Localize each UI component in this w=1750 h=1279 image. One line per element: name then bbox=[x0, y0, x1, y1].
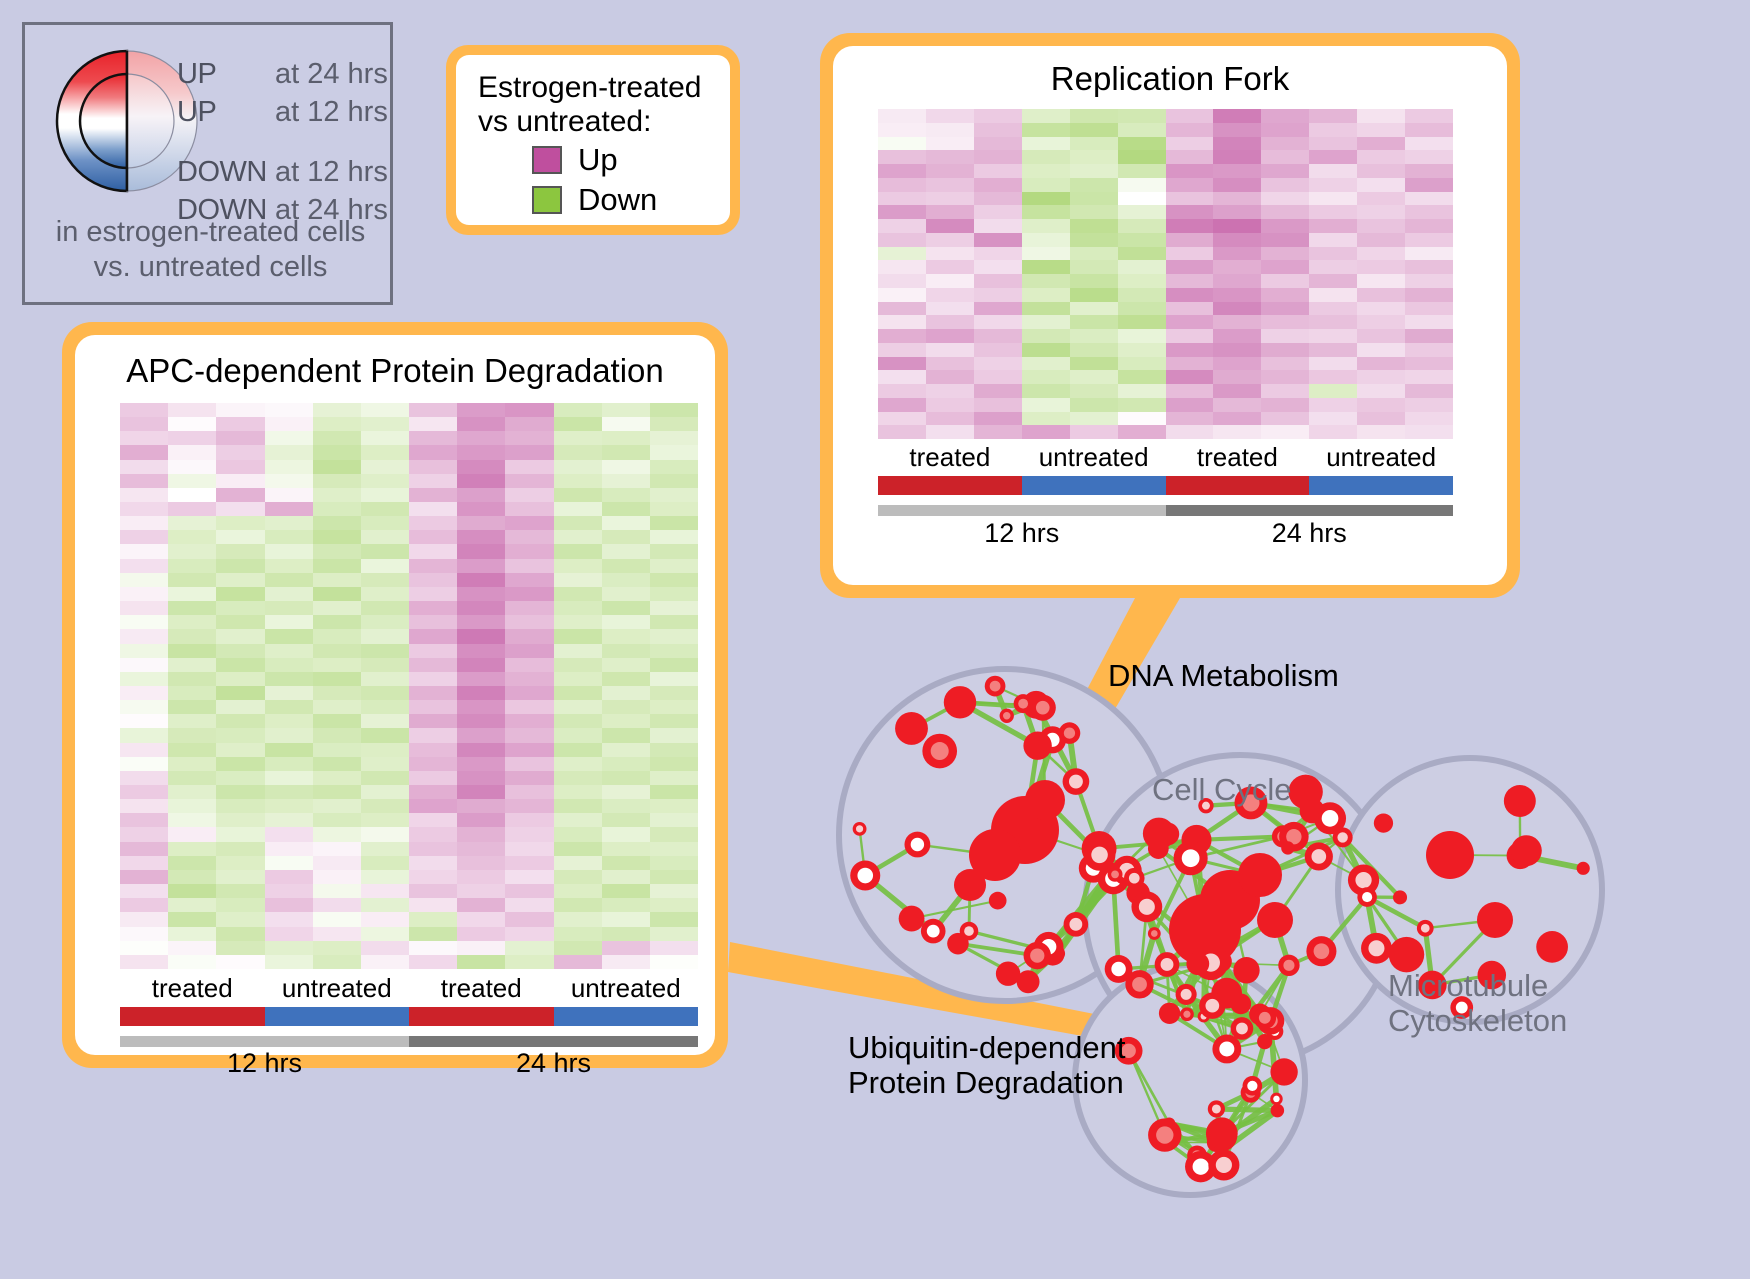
condition-bar-segment bbox=[878, 476, 1022, 495]
node-outer-ring bbox=[1238, 853, 1282, 897]
heatmap-cell bbox=[1309, 412, 1357, 426]
ubiquitin-line-2: Protein Degradation bbox=[848, 1065, 1126, 1100]
heatmap-cell bbox=[554, 587, 602, 601]
network-node[interactable] bbox=[1281, 841, 1294, 854]
heatmap-cell bbox=[1213, 274, 1261, 288]
heatmap-cell bbox=[878, 412, 926, 426]
heatmap-cell bbox=[974, 329, 1022, 343]
updown-title-line-1: Estrogen-treated bbox=[478, 71, 720, 105]
network-node[interactable] bbox=[899, 906, 925, 932]
heatmap-cell bbox=[1022, 398, 1070, 412]
network-node[interactable] bbox=[1361, 933, 1392, 964]
heatmap-cell bbox=[1070, 425, 1118, 439]
heatmap-cell bbox=[1213, 302, 1261, 316]
condition-label: treated bbox=[409, 973, 554, 1004]
heatmap-cell bbox=[265, 813, 313, 827]
heatmap-cell bbox=[313, 827, 361, 841]
heatmap-cell bbox=[265, 502, 313, 516]
heatmap-cell bbox=[1213, 357, 1261, 371]
network-node[interactable] bbox=[1271, 1104, 1285, 1118]
heatmap-cell bbox=[1213, 123, 1261, 137]
heatmap-cell bbox=[1261, 247, 1309, 261]
heatmap-cell bbox=[457, 445, 505, 459]
node-outer-ring bbox=[1186, 952, 1209, 975]
network-node[interactable] bbox=[1024, 942, 1051, 969]
heatmap-cell bbox=[168, 658, 216, 672]
heatmap-cell bbox=[1405, 150, 1453, 164]
network-node[interactable] bbox=[1208, 1100, 1225, 1117]
node-outer-ring bbox=[1025, 780, 1065, 820]
network-node[interactable] bbox=[895, 712, 928, 745]
heatmap-cell bbox=[168, 530, 216, 544]
heatmap-cell bbox=[313, 445, 361, 459]
heatmap-cell bbox=[1070, 370, 1118, 384]
heatmap-cell bbox=[216, 771, 264, 785]
network-node[interactable] bbox=[1186, 952, 1209, 975]
heatmap-cell bbox=[554, 573, 602, 587]
network-node[interactable] bbox=[1477, 902, 1513, 938]
heatmap-cell bbox=[216, 700, 264, 714]
heatmap-cell bbox=[602, 474, 650, 488]
heatmap-cell bbox=[650, 686, 698, 700]
heatmap-cell bbox=[457, 474, 505, 488]
network-node[interactable] bbox=[1389, 937, 1424, 972]
network-node[interactable] bbox=[1417, 920, 1434, 937]
panel-title-replication-fork: Replication Fork bbox=[833, 46, 1507, 98]
heatmap-cell bbox=[409, 672, 457, 686]
heatmap-cell bbox=[120, 884, 168, 898]
node-inner-fill bbox=[911, 838, 924, 851]
node-inner-fill bbox=[1151, 930, 1158, 937]
heatmap-cell bbox=[650, 559, 698, 573]
heatmap-cell bbox=[409, 615, 457, 629]
heatmap-cell bbox=[554, 771, 602, 785]
heatmap-cell bbox=[361, 771, 409, 785]
heatmap-cell bbox=[265, 403, 313, 417]
condition-label: untreated bbox=[1309, 442, 1453, 473]
node-outer-ring bbox=[944, 686, 976, 718]
network-node[interactable] bbox=[960, 922, 979, 941]
heatmap-cell bbox=[602, 856, 650, 870]
network-node[interactable] bbox=[1064, 912, 1089, 937]
down-color-swatch bbox=[532, 186, 562, 214]
heatmap-cell bbox=[216, 445, 264, 459]
network-node[interactable] bbox=[944, 686, 976, 718]
heatmap-cell bbox=[602, 884, 650, 898]
heatmap-cell bbox=[650, 474, 698, 488]
heatmap-cell bbox=[409, 629, 457, 643]
network-node[interactable] bbox=[1511, 835, 1542, 866]
heatmap-cell bbox=[878, 329, 926, 343]
network-node[interactable] bbox=[1131, 891, 1162, 922]
heatmap-cell bbox=[168, 728, 216, 742]
heatmap-cell bbox=[120, 743, 168, 757]
heatmap-cell bbox=[602, 728, 650, 742]
heatmap-cell bbox=[361, 672, 409, 686]
heatmap-cell bbox=[974, 137, 1022, 151]
network-node[interactable] bbox=[1233, 957, 1259, 983]
legend-row-up-12: UP at 12 hrs bbox=[177, 93, 392, 131]
network-node[interactable] bbox=[1176, 984, 1197, 1005]
network-node[interactable] bbox=[1125, 970, 1153, 998]
network-node[interactable] bbox=[1504, 785, 1536, 817]
network-node[interactable] bbox=[954, 869, 986, 901]
heatmap-cell bbox=[554, 516, 602, 530]
heatmap-cell bbox=[409, 686, 457, 700]
network-node[interactable] bbox=[1014, 694, 1033, 713]
heatmap-cell bbox=[265, 870, 313, 884]
heatmap-cell bbox=[1261, 164, 1309, 178]
heatmap-cell bbox=[313, 898, 361, 912]
heatmap-replication-fork bbox=[878, 109, 1453, 439]
heatmap-cell bbox=[650, 644, 698, 658]
heatmap-cell bbox=[1357, 247, 1405, 261]
heatmap-cell bbox=[120, 912, 168, 926]
heatmap-cell bbox=[1022, 412, 1070, 426]
node-outer-ring bbox=[1257, 1034, 1272, 1049]
heatmap-cell bbox=[168, 785, 216, 799]
heatmap-cell bbox=[1357, 233, 1405, 247]
heatmap-cell bbox=[650, 898, 698, 912]
network-node[interactable] bbox=[1393, 890, 1407, 904]
condition-color-bar-apc bbox=[120, 1007, 698, 1026]
heatmap-cell bbox=[409, 856, 457, 870]
heatmap-cell bbox=[1261, 315, 1309, 329]
heatmap-cell bbox=[1166, 329, 1214, 343]
heatmap-cell bbox=[1070, 192, 1118, 206]
heatmap-cell bbox=[1022, 178, 1070, 192]
heatmap-cell bbox=[313, 884, 361, 898]
network-node[interactable] bbox=[1017, 970, 1040, 993]
time-label: 24 hrs bbox=[409, 1048, 698, 1079]
heatmap-cell bbox=[313, 658, 361, 672]
heatmap-cell bbox=[1309, 233, 1357, 247]
heatmap-cell bbox=[554, 544, 602, 558]
heatmap-cell bbox=[1070, 164, 1118, 178]
heatmap-cell bbox=[926, 219, 974, 233]
heatmap-cell bbox=[120, 445, 168, 459]
heatmap-cell bbox=[216, 615, 264, 629]
network-label-cell-cycle: Cell Cycle bbox=[1152, 772, 1292, 807]
network-node[interactable] bbox=[1314, 802, 1346, 834]
heatmap-cell bbox=[505, 898, 553, 912]
network-node[interactable] bbox=[1306, 936, 1336, 966]
heatmap-cell bbox=[313, 516, 361, 530]
heatmap-cell bbox=[505, 856, 553, 870]
node-inner-fill bbox=[1156, 1126, 1173, 1143]
heatmap-cell bbox=[409, 417, 457, 431]
node-inner-fill bbox=[1091, 847, 1108, 864]
heatmap-cell bbox=[168, 884, 216, 898]
heatmap-cell bbox=[602, 658, 650, 672]
node-outer-ring bbox=[989, 892, 1007, 910]
network-node[interactable] bbox=[1238, 853, 1282, 897]
heatmap-cell bbox=[1118, 384, 1166, 398]
heatmap-cell bbox=[409, 601, 457, 615]
heatmap-cell bbox=[168, 445, 216, 459]
heatmap-cell bbox=[505, 403, 553, 417]
time-labels-apc: 12 hrs24 hrs bbox=[120, 1048, 698, 1079]
node-inner-fill bbox=[931, 742, 949, 760]
node-inner-fill bbox=[1064, 727, 1075, 738]
heatmap-cell bbox=[409, 403, 457, 417]
network-node[interactable] bbox=[904, 832, 930, 858]
heatmap-cell bbox=[313, 573, 361, 587]
heatmap-cell bbox=[974, 233, 1022, 247]
network-node[interactable] bbox=[853, 822, 867, 836]
heatmap-cell bbox=[168, 573, 216, 587]
heatmap-cell bbox=[554, 927, 602, 941]
network-node[interactable] bbox=[1305, 842, 1333, 870]
heatmap-cell bbox=[1118, 315, 1166, 329]
legend-row-down-12: DOWN at 12 hrs bbox=[177, 153, 392, 191]
node-inner-fill bbox=[1247, 1081, 1257, 1091]
network-node[interactable] bbox=[1174, 841, 1208, 875]
time-label: 24 hrs bbox=[1166, 518, 1454, 549]
heatmap-cell bbox=[926, 398, 974, 412]
heatmap-cell bbox=[554, 799, 602, 813]
heatmap-cell bbox=[1070, 398, 1118, 412]
heatmap-cell bbox=[505, 587, 553, 601]
heatmap-cell bbox=[1118, 247, 1166, 261]
heatmap-cell bbox=[313, 941, 361, 955]
heatmap-cell bbox=[1070, 178, 1118, 192]
network-node[interactable] bbox=[1577, 862, 1590, 875]
heatmap-cell bbox=[265, 827, 313, 841]
node-inner-fill bbox=[1183, 1011, 1190, 1018]
network-node[interactable] bbox=[1148, 927, 1161, 940]
heatmap-cell bbox=[313, 912, 361, 926]
network-node[interactable] bbox=[1124, 868, 1145, 889]
heatmap-cell bbox=[265, 460, 313, 474]
node-outer-ring bbox=[1281, 841, 1294, 854]
heatmap-cell bbox=[1357, 343, 1405, 357]
heatmap-cell bbox=[650, 799, 698, 813]
heatmap-cell bbox=[457, 827, 505, 841]
heatmap-cell bbox=[313, 870, 361, 884]
network-node[interactable] bbox=[1243, 1076, 1263, 1096]
node-inner-fill bbox=[1181, 989, 1192, 1000]
heatmap-cell bbox=[926, 247, 974, 261]
heatmap-cell bbox=[120, 615, 168, 629]
network-node[interactable] bbox=[1199, 993, 1225, 1019]
heatmap-cell bbox=[313, 700, 361, 714]
heatmap-cell bbox=[926, 109, 974, 123]
heatmap-cell bbox=[1405, 205, 1453, 219]
heatmap-cell bbox=[1166, 384, 1214, 398]
network-node[interactable] bbox=[1278, 955, 1299, 976]
heatmap-cell bbox=[878, 247, 926, 261]
heatmap-cell bbox=[878, 205, 926, 219]
heatmap-cell bbox=[120, 644, 168, 658]
heatmap-cell bbox=[878, 233, 926, 247]
network-node[interactable] bbox=[1212, 1035, 1241, 1064]
heatmap-cell bbox=[505, 417, 553, 431]
heatmap-cell bbox=[926, 233, 974, 247]
network-node[interactable] bbox=[921, 919, 946, 944]
heatmap-cell bbox=[216, 403, 264, 417]
heatmap-cell bbox=[1405, 178, 1453, 192]
network-node[interactable] bbox=[922, 734, 957, 769]
up-label: Up bbox=[578, 142, 618, 178]
heatmap-cell bbox=[168, 757, 216, 771]
node-inner-fill bbox=[1355, 872, 1371, 888]
heatmap-cell bbox=[457, 516, 505, 530]
node-inner-fill bbox=[1111, 962, 1125, 976]
network-node[interactable] bbox=[985, 676, 1006, 697]
heatmap-cell bbox=[1118, 150, 1166, 164]
network-node[interactable] bbox=[1023, 732, 1051, 760]
heatmap-cell bbox=[1357, 357, 1405, 371]
heatmap-cell bbox=[602, 941, 650, 955]
network-node[interactable] bbox=[1030, 695, 1056, 721]
heatmap-cell bbox=[878, 164, 926, 178]
heatmap-cell bbox=[650, 870, 698, 884]
network-node[interactable] bbox=[1270, 1058, 1297, 1085]
node-outer-ring bbox=[1374, 813, 1393, 832]
network-node[interactable] bbox=[1159, 1003, 1180, 1024]
condition-label: untreated bbox=[1022, 442, 1166, 473]
network-node[interactable] bbox=[1148, 1118, 1181, 1151]
heatmap-cell bbox=[457, 743, 505, 757]
network-node[interactable] bbox=[1025, 780, 1065, 820]
heatmap-cell bbox=[168, 941, 216, 955]
heatmap-cell bbox=[120, 431, 168, 445]
network-node[interactable] bbox=[1536, 931, 1568, 963]
network-node[interactable] bbox=[1059, 722, 1081, 744]
heatmap-cell bbox=[650, 460, 698, 474]
heatmap-cell bbox=[602, 955, 650, 969]
heatmap-cell bbox=[602, 672, 650, 686]
condition-bar-segment bbox=[1309, 476, 1453, 495]
heatmap-cell bbox=[602, 686, 650, 700]
network-node[interactable] bbox=[1253, 1006, 1276, 1029]
heatmap-cell bbox=[265, 700, 313, 714]
heatmap-cell bbox=[120, 941, 168, 955]
network-node[interactable] bbox=[1257, 902, 1293, 938]
heatmap-cell bbox=[650, 417, 698, 431]
network-node[interactable] bbox=[1155, 952, 1180, 977]
heatmap-cell bbox=[216, 672, 264, 686]
network-label-dna-metabolism: DNA Metabolism bbox=[1108, 658, 1339, 693]
heatmap-cell bbox=[1118, 329, 1166, 343]
network-node[interactable] bbox=[1063, 768, 1090, 795]
heatmap-cell bbox=[554, 658, 602, 672]
network-node[interactable] bbox=[1206, 1117, 1238, 1149]
network-node[interactable] bbox=[1208, 1149, 1239, 1180]
network-node[interactable] bbox=[1270, 1093, 1283, 1106]
heatmap-cell bbox=[216, 601, 264, 615]
network-node[interactable] bbox=[989, 892, 1007, 910]
heatmap-cell bbox=[168, 403, 216, 417]
heatmap-cell bbox=[1261, 384, 1309, 398]
heatmap-apc bbox=[120, 403, 698, 969]
heatmap-cell bbox=[1261, 137, 1309, 151]
heatmap-cell bbox=[313, 955, 361, 969]
network-node[interactable] bbox=[850, 860, 880, 890]
heatmap-cell bbox=[554, 559, 602, 573]
network-node[interactable] bbox=[1357, 887, 1377, 907]
time-label: 12 hrs bbox=[120, 1048, 409, 1079]
heatmap-cell bbox=[974, 219, 1022, 233]
node-outer-ring bbox=[1426, 831, 1474, 879]
network-node[interactable] bbox=[1180, 1007, 1194, 1021]
heatmap-cell bbox=[974, 343, 1022, 357]
heatmap-cell bbox=[926, 150, 974, 164]
network-node[interactable] bbox=[1374, 813, 1393, 832]
heatmap-cell bbox=[926, 274, 974, 288]
heatmap-cell bbox=[878, 219, 926, 233]
network-node[interactable] bbox=[1084, 839, 1116, 871]
heatmap-cell bbox=[1357, 178, 1405, 192]
heatmap-cell bbox=[361, 474, 409, 488]
network-node[interactable] bbox=[1231, 1017, 1254, 1040]
heatmap-cell bbox=[168, 870, 216, 884]
heatmap-cell bbox=[1261, 412, 1309, 426]
heatmap-cell bbox=[361, 573, 409, 587]
heatmap-cell bbox=[1261, 150, 1309, 164]
node-outer-ring bbox=[1271, 1104, 1285, 1118]
panel-apc-degradation: APC-dependent Protein Degradation treate… bbox=[62, 322, 728, 1068]
legend-value: at 24 hrs bbox=[275, 58, 388, 91]
heatmap-cell bbox=[265, 842, 313, 856]
updown-color-key: Estrogen-treated vs untreated: Up Down bbox=[446, 45, 740, 235]
heatmap-cell bbox=[409, 502, 457, 516]
heatmap-cell bbox=[216, 799, 264, 813]
heatmap-cell bbox=[1022, 357, 1070, 371]
heatmap-cell bbox=[120, 488, 168, 502]
heatmap-cell bbox=[878, 343, 926, 357]
heatmap-cell bbox=[878, 288, 926, 302]
network-node[interactable] bbox=[1257, 1034, 1272, 1049]
heatmap-cell bbox=[1166, 315, 1214, 329]
heatmap-cell bbox=[1405, 357, 1453, 371]
heatmap-cell bbox=[313, 431, 361, 445]
heatmap-cell bbox=[265, 530, 313, 544]
heatmap-cell bbox=[216, 827, 264, 841]
heatmap-cell bbox=[1261, 274, 1309, 288]
heatmap-cell bbox=[409, 757, 457, 771]
heatmap-cell bbox=[1166, 178, 1214, 192]
node-inner-fill bbox=[927, 925, 940, 938]
heatmap-cell bbox=[1261, 370, 1309, 384]
heatmap-cell bbox=[926, 205, 974, 219]
heatmap-cell bbox=[265, 743, 313, 757]
key-row-down: Down bbox=[532, 182, 720, 218]
heatmap-cell bbox=[265, 474, 313, 488]
heatmap-cell bbox=[1357, 164, 1405, 178]
network-node[interactable] bbox=[1108, 867, 1123, 882]
time-labels-replication: 12 hrs24 hrs bbox=[878, 518, 1453, 549]
heatmap-cell bbox=[1309, 370, 1357, 384]
heatmap-cell bbox=[216, 559, 264, 573]
network-node[interactable] bbox=[1156, 822, 1179, 845]
heatmap-cell bbox=[216, 743, 264, 757]
heatmap-cell bbox=[120, 870, 168, 884]
heatmap-cell bbox=[409, 559, 457, 573]
network-node[interactable] bbox=[1426, 831, 1474, 879]
heatmap-cell bbox=[216, 629, 264, 643]
heatmap-cell bbox=[1261, 357, 1309, 371]
heatmap-cell bbox=[602, 417, 650, 431]
updown-title: Estrogen-treated vs untreated: bbox=[478, 71, 720, 138]
heatmap-cell bbox=[1357, 137, 1405, 151]
heatmap-cell bbox=[1118, 109, 1166, 123]
heatmap-cell bbox=[1213, 315, 1261, 329]
heatmap-cell bbox=[602, 813, 650, 827]
network-node[interactable] bbox=[1000, 709, 1014, 723]
heatmap-cell bbox=[1405, 329, 1453, 343]
